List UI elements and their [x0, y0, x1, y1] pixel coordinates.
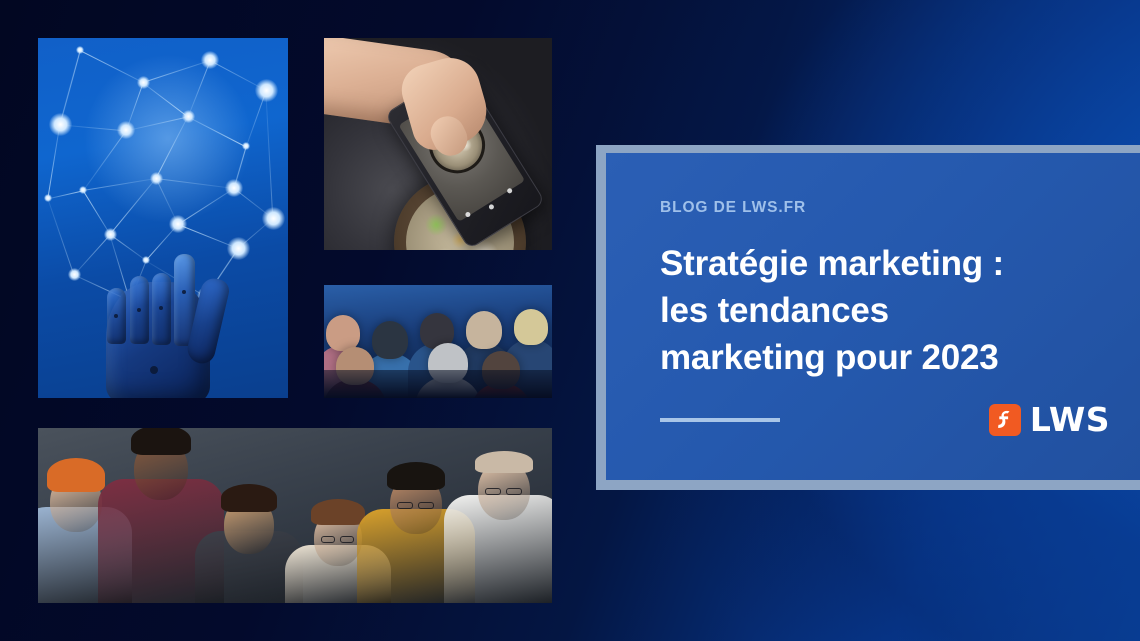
page-title-line-3: marketing pour 2023	[660, 335, 1110, 382]
lws-wordmark: LWS	[1030, 403, 1110, 436]
cinema-audience-photo	[324, 285, 552, 398]
page-title: Stratégie marketing : les tendances mark…	[660, 241, 1110, 382]
banner-stage: BLOG DE LWS.FR Stratégie marketing : les…	[0, 0, 1140, 641]
page-title-line-2: les tendances	[660, 288, 1110, 335]
robotic-hand-graphic	[90, 216, 240, 398]
blog-eyebrow-label: BLOG DE LWS.FR	[660, 199, 1110, 217]
lws-logo[interactable]: LWS	[989, 403, 1110, 436]
article-title-card-inner: BLOG DE LWS.FR Stratégie marketing : les…	[606, 153, 1140, 480]
diverse-group-people-photo	[38, 428, 552, 603]
smartphone-food-photo	[324, 38, 552, 250]
card-footer: LWS	[660, 403, 1110, 436]
page-title-line-1: Stratégie marketing :	[660, 241, 1110, 288]
article-title-card: BLOG DE LWS.FR Stratégie marketing : les…	[596, 145, 1140, 490]
robotic-hand-network-photo	[38, 38, 288, 398]
accent-divider	[660, 418, 780, 422]
seat-row	[324, 370, 552, 398]
lws-swirl-icon	[989, 404, 1021, 436]
